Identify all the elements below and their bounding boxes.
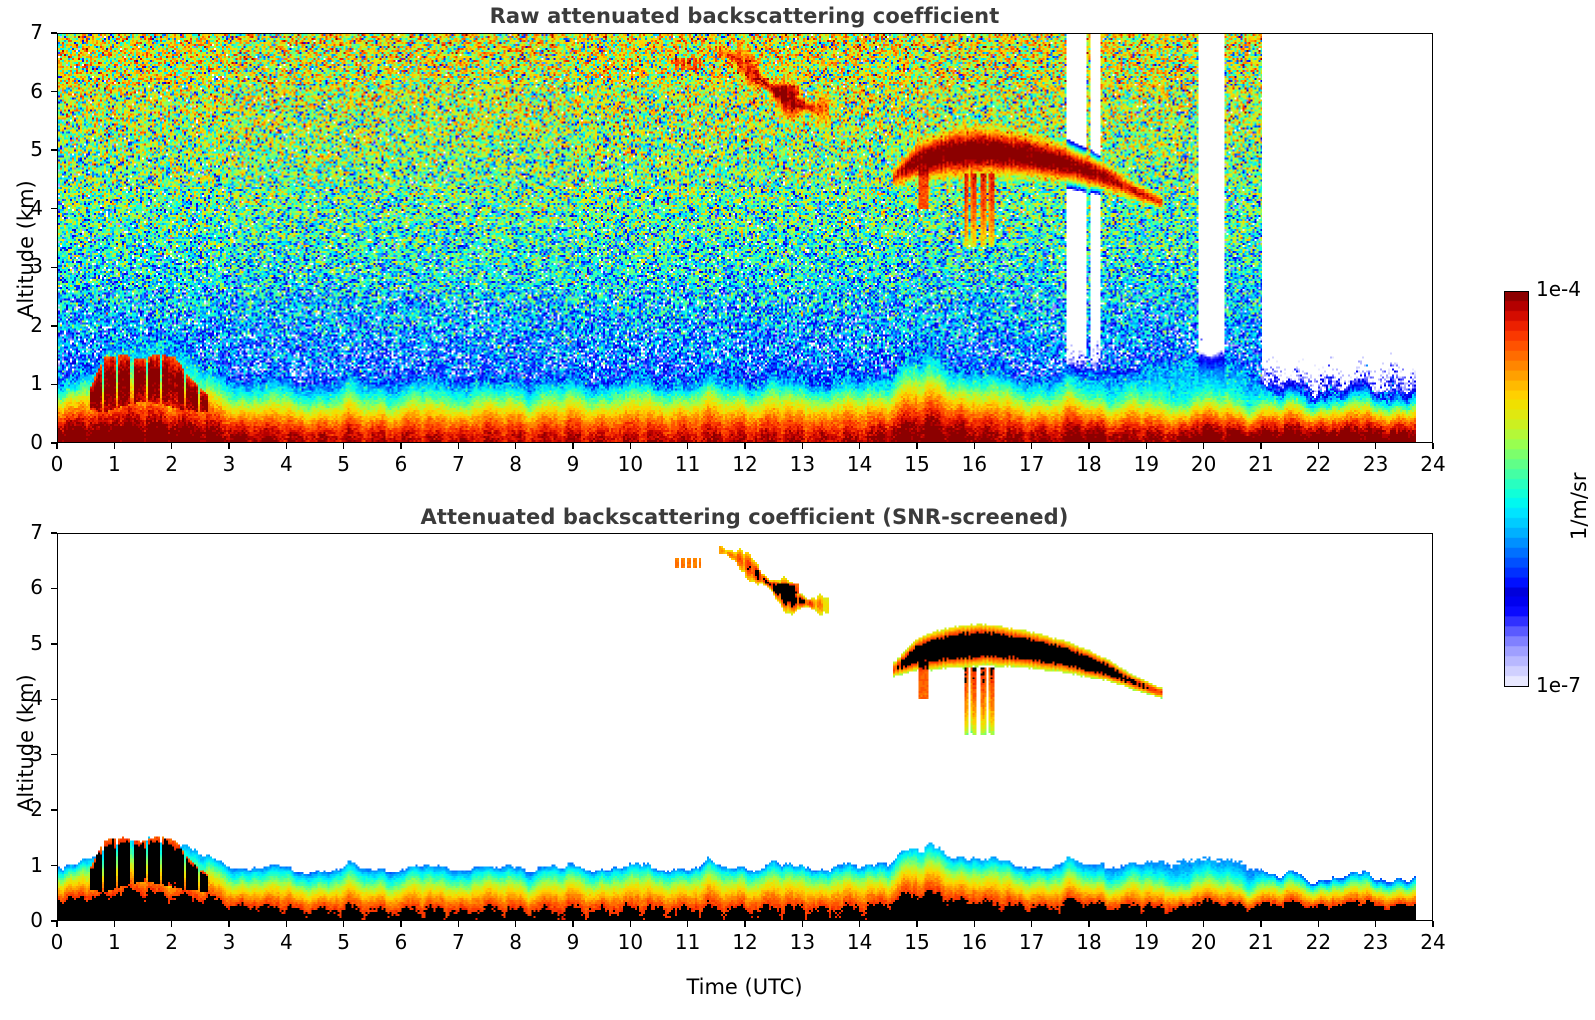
x-tick-label: 19 [1121,452,1171,476]
x-tick [1260,443,1261,449]
x-tick [1432,921,1433,927]
x-tick [802,921,803,927]
x-tick [1375,921,1376,927]
x-tick-label: 8 [491,930,541,954]
x-tick [343,443,344,449]
x-tick [802,443,803,449]
x-tick [114,921,115,927]
y-tick [51,208,57,209]
x-tick-label: 0 [32,930,82,954]
x-tick-label: 22 [1293,452,1343,476]
x-tick-label: 13 [777,930,827,954]
y-tick [51,643,57,644]
x-tick [1146,921,1147,927]
colorbar: 1e-4 1e-7 [1504,291,1529,687]
x-tick-label: 22 [1293,930,1343,954]
y-tick-label: 5 [3,137,43,161]
y-tick [51,865,57,866]
x-tick-label: 15 [892,930,942,954]
x-tick [630,921,631,927]
y-tick-label: 4 [3,196,43,220]
heatmap-canvas-screened [58,534,1432,920]
y-tick-label: 1 [3,371,43,395]
y-tick [51,588,57,589]
x-tick-label: 23 [1351,930,1401,954]
x-tick [171,443,172,449]
x-tick [286,443,287,449]
x-tick-label: 6 [376,930,426,954]
x-tick [515,921,516,927]
plot-area-raw [57,33,1433,443]
x-tick [171,921,172,927]
y-tick [51,699,57,700]
x-tick [1203,443,1204,449]
x-tick [1031,443,1032,449]
y-tick-label: 6 [3,79,43,103]
plot-area-screened [57,533,1433,921]
x-tick-label: 15 [892,452,942,476]
y-tick-label: 1 [3,853,43,877]
y-tick-label: 2 [3,313,43,337]
x-tick [114,443,115,449]
x-tick [400,921,401,927]
x-tick [572,443,573,449]
x-tick [916,921,917,927]
x-tick [400,443,401,449]
y-tick [51,532,57,533]
x-tick [974,443,975,449]
y-tick [51,32,57,33]
x-tick [458,443,459,449]
x-tick-label: 5 [319,452,369,476]
x-tick-label: 14 [835,452,885,476]
x-tick-label: 7 [433,930,483,954]
x-tick [916,443,917,449]
x-tick-label: 18 [1064,452,1114,476]
x-tick [1260,921,1261,927]
x-tick-label: 9 [548,930,598,954]
heatmap-canvas-raw [58,34,1432,442]
x-tick-label: 10 [605,452,655,476]
x-tick [1031,921,1032,927]
x-tick [859,921,860,927]
x-tick [56,443,57,449]
y-tick-label: 3 [3,254,43,278]
x-tick-label: 5 [319,930,369,954]
x-axis-label: Time (UTC) [0,975,1489,999]
x-tick [744,921,745,927]
x-tick [1318,443,1319,449]
x-tick-label: 2 [147,452,197,476]
x-tick [630,443,631,449]
x-tick [687,921,688,927]
x-tick [1088,921,1089,927]
x-tick-label: 10 [605,930,655,954]
x-tick-label: 4 [261,930,311,954]
x-tick [1203,921,1204,927]
y-tick [51,267,57,268]
x-tick-label: 11 [663,452,713,476]
x-tick-label: 21 [1236,452,1286,476]
x-tick [286,921,287,927]
x-tick-label: 12 [720,930,770,954]
y-tick [51,442,57,443]
colorbar-gradient [1504,291,1529,687]
x-tick-label: 0 [32,452,82,476]
panel-title-raw: Raw attenuated backscattering coefficien… [57,4,1432,28]
x-tick-label: 20 [1179,452,1229,476]
y-tick-label: 5 [3,631,43,655]
y-tick-label: 4 [3,686,43,710]
colorbar-max-label: 1e-4 [1536,277,1581,301]
x-tick-label: 7 [433,452,483,476]
x-tick-label: 18 [1064,930,1114,954]
x-tick [1088,443,1089,449]
y-tick-label: 7 [3,520,43,544]
x-tick-label: 6 [376,452,426,476]
x-tick-label: 16 [949,452,999,476]
colorbar-unit-label: 1/m/sr [1567,472,1591,540]
y-tick-label: 2 [3,797,43,821]
x-tick [744,443,745,449]
x-tick [458,921,459,927]
x-tick-label: 17 [1007,452,1057,476]
x-tick [228,921,229,927]
x-tick-label: 24 [1408,452,1458,476]
y-tick [51,325,57,326]
y-tick [51,809,57,810]
y-tick-label: 3 [3,742,43,766]
x-tick-label: 11 [663,930,713,954]
x-tick [56,921,57,927]
x-tick-label: 1 [89,930,139,954]
x-tick [572,921,573,927]
x-tick-label: 13 [777,452,827,476]
y-tick [51,149,57,150]
y-tick-label: 6 [3,575,43,599]
x-tick-label: 2 [147,930,197,954]
x-tick-label: 4 [261,452,311,476]
panel-title-screened: Attenuated backscattering coefficient (S… [57,505,1432,529]
x-tick [974,921,975,927]
x-tick-label: 14 [835,930,885,954]
x-tick-label: 24 [1408,930,1458,954]
x-tick-label: 21 [1236,930,1286,954]
x-tick [343,921,344,927]
x-tick [1375,443,1376,449]
y-tick-label: 0 [3,908,43,932]
x-tick-label: 12 [720,452,770,476]
x-tick-label: 23 [1351,452,1401,476]
figure-root: Raw attenuated backscattering coefficien… [0,0,1595,1020]
x-tick [687,443,688,449]
colorbar-min-label: 1e-7 [1536,673,1581,697]
y-tick-label: 0 [3,430,43,454]
y-tick [51,920,57,921]
x-tick-label: 19 [1121,930,1171,954]
y-tick [51,91,57,92]
y-tick-label: 7 [3,20,43,44]
x-tick-label: 3 [204,452,254,476]
x-tick-label: 9 [548,452,598,476]
x-tick-label: 1 [89,452,139,476]
x-tick-label: 3 [204,930,254,954]
x-tick [1146,443,1147,449]
x-tick [1318,921,1319,927]
x-tick-label: 8 [491,452,541,476]
x-tick-label: 20 [1179,930,1229,954]
y-tick [51,754,57,755]
x-tick-label: 16 [949,930,999,954]
y-tick [51,384,57,385]
x-tick-label: 17 [1007,930,1057,954]
x-tick [515,443,516,449]
x-tick [859,443,860,449]
x-tick [1432,443,1433,449]
x-tick [228,443,229,449]
